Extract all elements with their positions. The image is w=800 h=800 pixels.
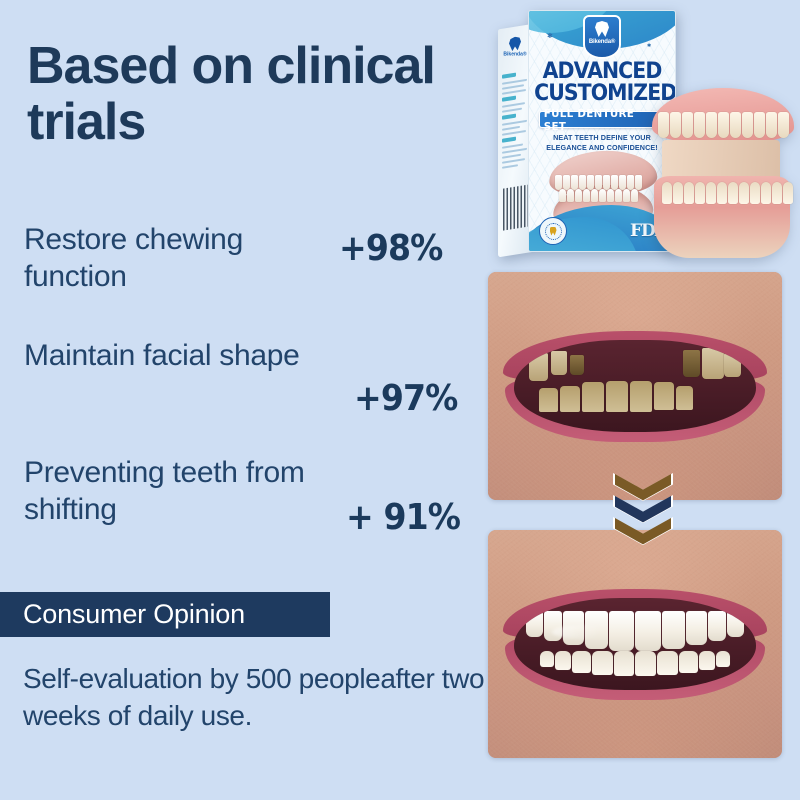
product-box-side-panel: Bikenda® [498,24,532,257]
feature-percent: +98% [339,228,442,269]
feature-row: Maintain facial shape +97% [24,338,484,428]
sparkle-icon: ✱ [547,32,553,40]
mouth-opening [514,340,755,431]
denture-model-photo [650,88,798,260]
barcode [503,184,529,230]
product-subtitle: FULL DENTURE SET [544,107,661,133]
product-title-line1: ADVANCED [534,61,670,83]
feature-label: Preventing teeth from shifting [24,455,324,528]
damaged-teeth [514,340,755,431]
side-brand-logo: Bikenda® [502,35,528,69]
tooth-icon [550,227,557,236]
lower-teeth-row [559,189,638,202]
side-brand-name: Bikenda® [502,52,528,58]
page-title: Based on clinical trials [27,38,487,150]
upper-model-teeth [658,112,789,138]
feature-row: Preventing teeth from shifting + 91% [24,455,484,545]
before-smile-photo [488,272,782,500]
side-panel-text-lines [502,70,529,171]
lower-model-teeth [662,182,793,204]
brand-name: Bikenda® [589,39,615,45]
upper-teeth-row [555,175,642,190]
feature-label: Maintain facial shape [24,338,324,375]
tooth-icon [595,21,609,37]
consumer-opinion-label: Consumer Opinion [0,599,245,630]
model-upper-jaw [652,88,794,144]
feature-row: Restore chewing function +98% [24,222,484,312]
white-veneer-teeth [519,611,750,678]
product-subtitle-pill: FULL DENTURE SET [539,111,665,128]
model-lower-jaw [654,176,790,258]
consumer-opinion-banner: Consumer Opinion [0,592,330,637]
sparkle-icon: ✱ [647,43,651,49]
feature-percent: + 91% [346,497,460,538]
brand-shield-badge: Bikenda® [583,15,621,59]
feature-label: Restore chewing function [24,222,324,295]
tooth-icon [509,36,521,52]
lower-teeth-row [519,651,750,676]
consumer-opinion-note: Self-evaluation by 500 peopleafter two w… [23,660,485,734]
after-smile-photo [488,530,782,758]
mouth-opening [514,598,755,689]
advertisement-canvas: Based on clinical trials Restore chewing… [0,0,800,800]
feature-percent: +97% [354,378,457,419]
chevron-down-triple-icon [615,474,671,560]
product-tagline: NEAT TEETH DEFINE YOUR ELEGANCE AND CONF… [541,133,663,152]
product-showcase: Bikenda® Bikenda® ✱ [488,4,800,266]
dentist-approved-seal [539,217,567,245]
